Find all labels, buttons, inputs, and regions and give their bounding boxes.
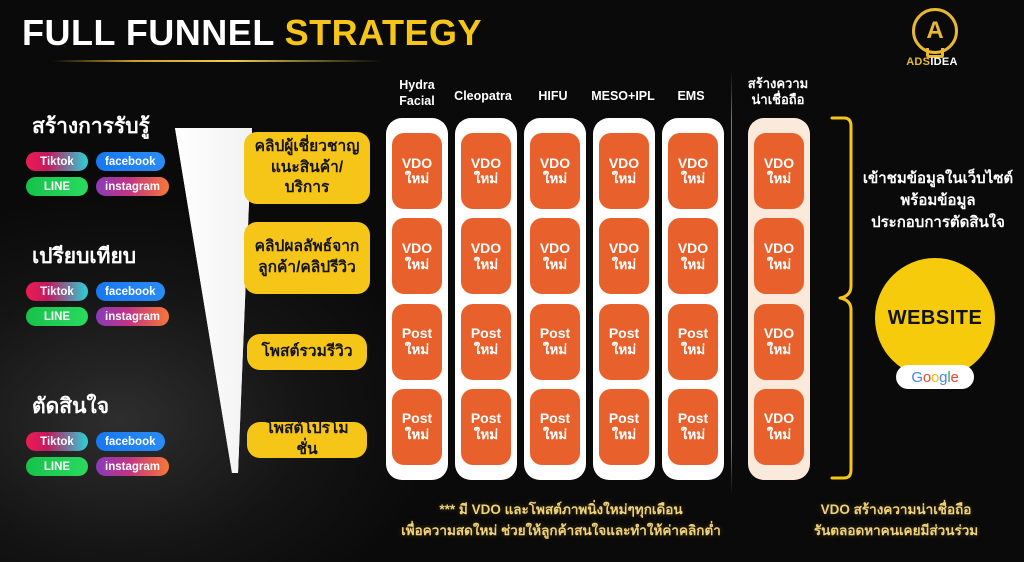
cell-label: Post	[471, 410, 501, 427]
page-title: FULL FUNNEL STRATEGY	[22, 12, 482, 54]
footnote-left-line1: *** มี VDO และโพสต์ภาพนิ่งใหม่ๆทุกเดือน	[388, 500, 734, 521]
google-letter-e: e	[950, 369, 958, 386]
cell-label: Post	[471, 325, 501, 342]
column-header-line1: MESO+IPL	[580, 89, 666, 105]
google-letter-o1: o	[923, 369, 931, 386]
matrix-cell[interactable]: VDOใหม่	[754, 304, 804, 380]
cell-label: VDO	[402, 155, 432, 172]
audience-group-awareness: สร้างการรับรู้ Tiktok facebook LINE inst…	[26, 110, 201, 196]
website-circle-label: WEBSITE	[888, 307, 983, 330]
channel-badge-tiktok[interactable]: Tiktok	[26, 282, 88, 301]
column-header-cleopatra: Cleopatra	[443, 89, 523, 105]
cell-label: VDO	[471, 240, 501, 257]
column-header-line1: Hydra	[386, 78, 448, 94]
matrix-cell[interactable]: Postใหม่	[530, 304, 580, 380]
service-column-cleopatra: VDOใหม่ VDOใหม่ Postใหม่ Postใหม่	[455, 118, 517, 480]
cell-label: VDO	[678, 155, 708, 172]
cell-sublabel: ใหม่	[612, 171, 636, 187]
matrix-cell[interactable]: VDOใหม่	[392, 218, 442, 294]
channel-badge-facebook[interactable]: facebook	[96, 152, 165, 171]
cell-label: Post	[678, 410, 708, 427]
cell-label: Post	[402, 410, 432, 427]
channel-badge-line[interactable]: LINE	[26, 177, 88, 196]
column-header-hydra-facial: Hydra Facial	[386, 78, 448, 109]
content-card-4[interactable]: โพสต์โปรโมชั่น	[247, 422, 367, 458]
service-column-hydra-facial: VDOใหม่ VDOใหม่ Postใหม่ Postใหม่	[386, 118, 448, 480]
audience-group-decision: ตัดสินใจ Tiktok facebook LINE instagram	[26, 390, 201, 476]
cell-label: VDO	[609, 155, 639, 172]
column-header-line2: Facial	[386, 94, 448, 110]
footnote-right-line1: VDO สร้างความน่าเชื่อถือ	[768, 500, 1024, 521]
matrix-cell[interactable]: VDOใหม่	[530, 133, 580, 209]
cell-label: VDO	[609, 240, 639, 257]
audience-group-title: ตัดสินใจ	[32, 390, 201, 423]
cell-label: Post	[609, 410, 639, 427]
cell-label: Post	[402, 325, 432, 342]
content-card-line1: คลิปผลลัพธ์จาก	[255, 237, 360, 258]
cell-sublabel: ใหม่	[767, 257, 791, 273]
cell-label: VDO	[402, 240, 432, 257]
brand-name: ADSIDEA	[895, 56, 969, 68]
cell-sublabel: ใหม่	[405, 427, 429, 443]
channel-badge-instagram[interactable]: instagram	[96, 177, 169, 196]
column-header-line1: EMS	[660, 89, 722, 105]
column-header-credibility: สร้างความ น่าเชื่อถือ	[738, 76, 818, 109]
column-header-hifu: HIFU	[517, 89, 589, 105]
channel-badge-facebook[interactable]: facebook	[96, 432, 165, 451]
service-column-meso-ipl: VDOใหม่ VDOใหม่ Postใหม่ Postใหม่	[593, 118, 655, 480]
title-accent: STRATEGY	[285, 12, 482, 53]
matrix-cell[interactable]: Postใหม่	[461, 389, 511, 465]
curly-brace-icon	[824, 116, 854, 480]
cell-label: VDO	[678, 240, 708, 257]
content-card-line2: แนะสินค้า/บริการ	[252, 158, 362, 200]
content-card-line2: ลูกค้า/คลิปรีวิว	[258, 258, 356, 279]
cell-label: VDO	[764, 325, 794, 342]
column-header-meso-ipl: MESO+IPL	[580, 89, 666, 105]
matrix-cell[interactable]: VDOใหม่	[392, 133, 442, 209]
brand-name-part2: IDEA	[930, 56, 957, 68]
channel-badge-tiktok[interactable]: Tiktok	[26, 152, 88, 171]
cell-sublabel: ใหม่	[681, 427, 705, 443]
cell-label: Post	[540, 410, 570, 427]
cell-sublabel: ใหม่	[474, 171, 498, 187]
website-description: เข้าชมข้อมูลในเว็บไซต์ พร้อมข้อมูล ประกอ…	[852, 168, 1024, 233]
matrix-cell[interactable]: Postใหม่	[599, 304, 649, 380]
cell-sublabel: ใหม่	[405, 257, 429, 273]
cell-sublabel: ใหม่	[767, 342, 791, 358]
matrix-cell[interactable]: Postใหม่	[668, 389, 718, 465]
matrix-cell[interactable]: Postใหม่	[599, 389, 649, 465]
service-column-hifu: VDOใหม่ VDOใหม่ Postใหม่ Postใหม่	[524, 118, 586, 480]
cell-label: Post	[678, 325, 708, 342]
cell-label: VDO	[764, 155, 794, 172]
matrix-cell[interactable]: VDOใหม่	[461, 133, 511, 209]
matrix-cell[interactable]: Postใหม่	[530, 389, 580, 465]
brand-name-part1: ADS	[906, 56, 930, 68]
matrix-cell[interactable]: Postใหม่	[392, 389, 442, 465]
content-card-line1: คลิปผู้เชี่ยวชาญ	[255, 137, 360, 158]
website-description-line2: พร้อมข้อมูล	[852, 190, 1024, 212]
section-divider	[731, 70, 732, 495]
footnote-left-line2: เพื่อความสดใหม่ ช่วยให้ลูกค้าสนใจและทำให…	[388, 521, 734, 542]
footnote-left: *** มี VDO และโพสต์ภาพนิ่งใหม่ๆทุกเดือน …	[388, 500, 734, 542]
matrix-cell[interactable]: Postใหม่	[461, 304, 511, 380]
google-letter-g: G	[911, 369, 922, 386]
cell-sublabel: ใหม่	[474, 427, 498, 443]
cell-label: VDO	[540, 155, 570, 172]
title-primary: FULL FUNNEL	[22, 12, 274, 53]
matrix-cell[interactable]: Postใหม่	[668, 304, 718, 380]
cell-sublabel: ใหม่	[474, 342, 498, 358]
footnote-right-line2: รันตลอดหาคนเคยมีส่วนร่วม	[768, 521, 1024, 542]
website-circle-badge[interactable]: WEBSITE	[875, 258, 995, 378]
content-card-3[interactable]: โพสต์รวมรีวิว	[247, 334, 367, 370]
cell-sublabel: ใหม่	[612, 342, 636, 358]
content-card-line1: โพสต์โปรโมชั่น	[255, 419, 359, 461]
matrix-cell[interactable]: VDOใหม่	[599, 133, 649, 209]
google-letter-g2: g	[939, 369, 947, 386]
matrix-cell[interactable]: VDOใหม่	[668, 218, 718, 294]
matrix-cell[interactable]: VDOใหม่	[668, 133, 718, 209]
column-header-line1: สร้างความ	[738, 76, 818, 92]
brand-logo: A ADSIDEA	[895, 6, 969, 76]
audience-group-consideration: เปรียบเทียบ Tiktok facebook LINE instagr…	[26, 240, 201, 326]
cell-sublabel: ใหม่	[543, 342, 567, 358]
cell-label: VDO	[471, 155, 501, 172]
channel-badge-facebook[interactable]: facebook	[96, 282, 165, 301]
cell-label: VDO	[540, 240, 570, 257]
column-header-line1: HIFU	[517, 89, 589, 105]
content-card-1[interactable]: คลิปผู้เชี่ยวชาญ แนะสินค้า/บริการ	[244, 132, 370, 204]
cell-sublabel: ใหม่	[767, 171, 791, 187]
logo-mark-letter: A	[926, 19, 943, 43]
website-description-line1: เข้าชมข้อมูลในเว็บไซต์	[852, 168, 1024, 190]
matrix-cell[interactable]: VDOใหม่	[754, 218, 804, 294]
content-card-line1: โพสต์รวมรีวิว	[261, 342, 352, 363]
cell-label: VDO	[764, 240, 794, 257]
channel-badge-tiktok[interactable]: Tiktok	[26, 432, 88, 451]
website-description-line3: ประกอบการตัดสินใจ	[852, 212, 1024, 234]
cell-sublabel: ใหม่	[405, 342, 429, 358]
column-header-line2: น่าเชื่อถือ	[738, 92, 818, 108]
cell-sublabel: ใหม่	[405, 171, 429, 187]
cell-sublabel: ใหม่	[681, 171, 705, 187]
cell-sublabel: ใหม่	[681, 342, 705, 358]
cell-sublabel: ใหม่	[543, 427, 567, 443]
google-letter-o2: o	[931, 369, 939, 386]
column-header-ems: EMS	[660, 89, 722, 105]
channel-badge-line[interactable]: LINE	[26, 307, 88, 326]
column-header-line1: Cleopatra	[443, 89, 523, 105]
matrix-cell[interactable]: VDOใหม่	[461, 218, 511, 294]
cell-label: VDO	[764, 410, 794, 427]
cell-label: Post	[540, 325, 570, 342]
cell-sublabel: ใหม่	[612, 257, 636, 273]
channel-badge-line[interactable]: LINE	[26, 457, 88, 476]
footnote-right: VDO สร้างความน่าเชื่อถือ รันตลอดหาคนเคยม…	[768, 500, 1024, 542]
channel-badge-list: Tiktok facebook LINE instagram	[26, 432, 192, 476]
cell-label: Post	[609, 325, 639, 342]
matrix-cell[interactable]: VDOใหม่	[530, 218, 580, 294]
cell-sublabel: ใหม่	[474, 257, 498, 273]
channel-badge-list: Tiktok facebook LINE instagram	[26, 282, 192, 326]
service-column-ems: VDOใหม่ VDOใหม่ Postใหม่ Postใหม่	[662, 118, 724, 480]
cell-sublabel: ใหม่	[612, 427, 636, 443]
content-card-2[interactable]: คลิปผลลัพธ์จาก ลูกค้า/คลิปรีวิว	[244, 222, 370, 294]
matrix-cell[interactable]: VDOใหม่	[754, 389, 804, 465]
matrix-cell[interactable]: VDOใหม่	[599, 218, 649, 294]
channel-badge-list: Tiktok facebook LINE instagram	[26, 152, 192, 196]
matrix-cell[interactable]: Postใหม่	[392, 304, 442, 380]
cell-sublabel: ใหม่	[767, 427, 791, 443]
channel-badge-instagram[interactable]: instagram	[96, 307, 169, 326]
cell-sublabel: ใหม่	[543, 257, 567, 273]
infographic-canvas: FULL FUNNEL STRATEGY A ADSIDEA สร้างการร…	[0, 0, 1024, 562]
title-underline	[52, 60, 382, 62]
cell-sublabel: ใหม่	[681, 257, 705, 273]
matrix-cell[interactable]: VDOใหม่	[754, 133, 804, 209]
audience-group-title: เปรียบเทียบ	[32, 240, 201, 273]
channel-badge-instagram[interactable]: instagram	[96, 457, 169, 476]
service-column-credibility: VDOใหม่ VDOใหม่ VDOใหม่ VDOใหม่	[748, 118, 810, 480]
audience-group-title: สร้างการรับรู้	[32, 110, 201, 143]
google-logo[interactable]: Google	[896, 365, 974, 389]
cell-sublabel: ใหม่	[543, 171, 567, 187]
